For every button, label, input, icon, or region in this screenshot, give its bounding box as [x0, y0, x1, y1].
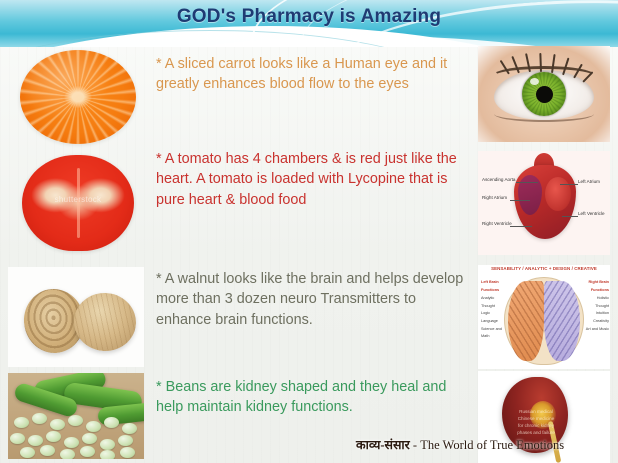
bean-seed — [118, 435, 133, 446]
carrot-slice-shape — [20, 50, 136, 144]
brain-header-left: SENSABILITY / ANALYTIC — [491, 266, 547, 271]
brain-left-item: Science and Math — [481, 326, 505, 341]
heart-label-left-atrium: Left Atrium — [578, 179, 600, 185]
footer-tagline: The World of True Emotions — [420, 438, 564, 452]
brain-left-item: Language — [481, 318, 505, 326]
row-tomato: shutterstock * A tomato has 4 chambers &… — [0, 145, 618, 263]
bean-seed — [68, 415, 83, 426]
brain-right-item: Holistic Thought — [584, 295, 609, 310]
brain-left-hemisphere — [508, 281, 544, 361]
page-title: GOD's Pharmacy is Amazing — [0, 6, 618, 28]
brain-left-item: Analytic Thought — [481, 295, 505, 310]
footer-dash: - — [410, 438, 420, 452]
bean-seed — [28, 435, 43, 446]
eye-highlight — [530, 78, 539, 85]
bean-seed — [82, 433, 97, 444]
brain-header-separator: + — [549, 266, 552, 271]
heart-label-ascending-aorta: Ascending Aorta — [482, 177, 515, 183]
kidney-watermark-line: for chronic kidney — [518, 423, 554, 428]
brain-right-hemisphere — [544, 281, 580, 361]
brain-diagram-header: SENSABILITY / ANALYTIC + DESIGN / CREATI… — [478, 266, 610, 271]
brain-right-functions-title: Right Brain Functions — [584, 279, 609, 294]
sliced-carrot-photo — [8, 46, 144, 150]
heart-label-right-atrium: Right Atrium — [482, 195, 507, 201]
kidney-watermark-text: Russian medical Chinese medicine for chr… — [504, 409, 568, 437]
brain-right-item: Creativity — [584, 318, 609, 326]
eye-pupil — [536, 86, 553, 103]
heart-label-left-ventricle: Left Ventricle — [578, 211, 605, 217]
bean-seed — [14, 417, 29, 428]
halved-tomato-photo: shutterstock — [8, 151, 144, 257]
bean-seed — [50, 419, 65, 430]
heart-leader-line — [562, 216, 578, 217]
header-banner: GOD's Pharmacy is Amazing — [0, 0, 618, 47]
carrot-text: * A sliced carrot looks like a Human eye… — [156, 54, 474, 95]
kidney-watermark-line: Chinese medicine — [518, 416, 555, 421]
beans-text: * Beans are kidney shaped and they heal … — [156, 377, 474, 418]
walnuts-photo — [8, 267, 144, 367]
bean-seed — [64, 437, 79, 448]
kidney-watermark-line: Russian medical — [519, 409, 553, 414]
heart-label-right-ventricle: Right Ventricle — [482, 221, 512, 227]
slide-root: GOD's Pharmacy is Amazing * A sliced car… — [0, 0, 618, 463]
bean-seed — [40, 445, 55, 456]
heart-cross-section-diagram: Ascending Aorta Right Atrium Right Ventr… — [478, 151, 610, 255]
heart-leader-line — [510, 200, 530, 201]
bean-seed — [10, 433, 25, 444]
heart-leader-line — [510, 226, 532, 227]
footer-watermark: काव्य-संसार - The World of True Emotions — [356, 436, 564, 453]
broad-beans-photo — [8, 373, 144, 459]
brain-right-item: Art and Music — [584, 326, 609, 334]
bean-seed — [100, 439, 115, 450]
brain-left-functions-title: Left Brain Functions — [481, 279, 505, 294]
bean-seed — [32, 413, 47, 424]
bean-seed — [80, 446, 95, 457]
footer-devanagari: काव्य-संसार — [356, 438, 410, 452]
brain-hemispheres-diagram: SENSABILITY / ANALYTIC + DESIGN / CREATI… — [478, 265, 610, 369]
bean-seed — [60, 449, 75, 459]
tomato-watermark: shutterstock — [22, 195, 134, 204]
bean-seed — [86, 421, 101, 432]
brain-left-item: Logic — [481, 310, 505, 318]
green-human-eye-photo — [478, 46, 610, 142]
tomato-text: * A tomato has 4 chambers & is red just … — [156, 149, 474, 210]
kidney-watermark-line: phases and failure — [517, 430, 555, 435]
brain-right-functions-list: Right Brain Functions Holistic Thought I… — [584, 279, 609, 333]
bean-seed — [122, 423, 137, 434]
bean-seed — [20, 447, 35, 458]
row-walnut: * A walnut looks like the brain and help… — [0, 263, 618, 373]
bean-seed — [100, 450, 115, 459]
bean-seed — [120, 447, 135, 458]
heart-leader-line — [516, 182, 538, 183]
walnut-whole — [71, 290, 139, 354]
heart-shape — [514, 165, 576, 239]
brain-right-item: Intuition — [584, 310, 609, 318]
walnut-text: * A walnut looks like the brain and help… — [156, 269, 474, 330]
heart-leader-line — [560, 184, 578, 185]
bean-seed — [104, 417, 119, 428]
brain-header-right: DESIGN / CREATIVE — [553, 266, 597, 271]
brain-left-functions-list: Left Brain Functions Analytic Thought Lo… — [481, 279, 505, 341]
bean-seed — [46, 431, 61, 442]
row-carrot: * A sliced carrot looks like a Human eye… — [0, 44, 618, 150]
